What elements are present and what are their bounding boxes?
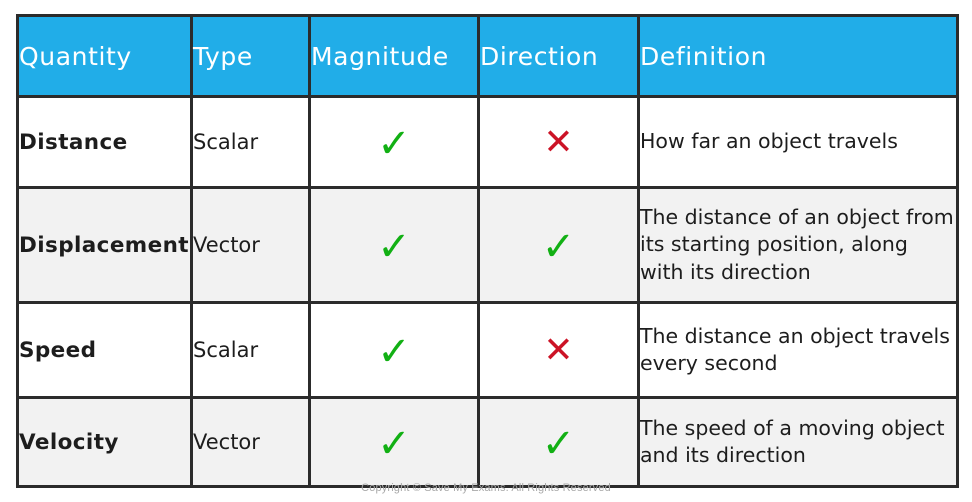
cell-direction: ✕ — [479, 303, 639, 398]
check-icon: ✓ — [377, 124, 411, 164]
cell-magnitude: ✓ — [310, 398, 479, 487]
check-icon: ✓ — [542, 424, 576, 464]
cell-direction: ✓ — [479, 188, 639, 303]
cell-type: Vector — [192, 398, 310, 487]
check-icon: ✓ — [542, 227, 576, 267]
copyright-notice: Copyright © Save My Exams. All Rights Re… — [0, 482, 972, 494]
cell-quantity: Distance — [18, 97, 192, 188]
column-header-magnitude: Magnitude — [310, 16, 479, 97]
cell-magnitude: ✓ — [310, 188, 479, 303]
table-row: Speed Scalar ✓ ✕ The distance an object … — [18, 303, 958, 398]
cell-definition: The distance of an object from its start… — [639, 188, 958, 303]
cell-type: Scalar — [192, 97, 310, 188]
cell-type: Vector — [192, 188, 310, 303]
cell-definition: How far an object travels — [639, 97, 958, 188]
comparison-table-wrapper: Quantity Type Magnitude Direction Defini… — [16, 14, 956, 474]
definition-text: How far an object travels — [640, 128, 956, 155]
table-header: Quantity Type Magnitude Direction Defini… — [18, 16, 958, 97]
column-header-quantity: Quantity — [18, 16, 192, 97]
table-row: Velocity Vector ✓ ✓ The speed of a movin… — [18, 398, 958, 487]
cross-icon: ✕ — [543, 125, 573, 161]
check-icon: ✓ — [377, 424, 411, 464]
cell-direction: ✓ — [479, 398, 639, 487]
cell-magnitude: ✓ — [310, 97, 479, 188]
cell-quantity: Speed — [18, 303, 192, 398]
definition-text: The distance of an object from its start… — [640, 204, 956, 285]
table-row: Distance Scalar ✓ ✕ How far an object tr… — [18, 97, 958, 188]
definition-text: The speed of a moving object and its dir… — [640, 415, 956, 469]
cell-direction: ✕ — [479, 97, 639, 188]
column-header-type: Type — [192, 16, 310, 97]
figure-canvas: Quantity Type Magnitude Direction Defini… — [0, 0, 972, 502]
cell-type: Scalar — [192, 303, 310, 398]
scalars-vectors-table: Quantity Type Magnitude Direction Defini… — [16, 14, 959, 488]
cell-magnitude: ✓ — [310, 303, 479, 398]
cell-quantity: Velocity — [18, 398, 192, 487]
column-header-direction: Direction — [479, 16, 639, 97]
column-header-definition: Definition — [639, 16, 958, 97]
cell-definition: The distance an object travels every sec… — [639, 303, 958, 398]
definition-text: The distance an object travels every sec… — [640, 323, 956, 377]
table-row: Displacement Vector ✓ ✓ The distance of … — [18, 188, 958, 303]
cell-definition: The speed of a moving object and its dir… — [639, 398, 958, 487]
table-header-row: Quantity Type Magnitude Direction Defini… — [18, 16, 958, 97]
table-body: Distance Scalar ✓ ✕ How far an object tr… — [18, 97, 958, 487]
check-icon: ✓ — [377, 332, 411, 372]
check-icon: ✓ — [377, 227, 411, 267]
cell-quantity: Displacement — [18, 188, 192, 303]
cross-icon: ✕ — [543, 333, 573, 369]
